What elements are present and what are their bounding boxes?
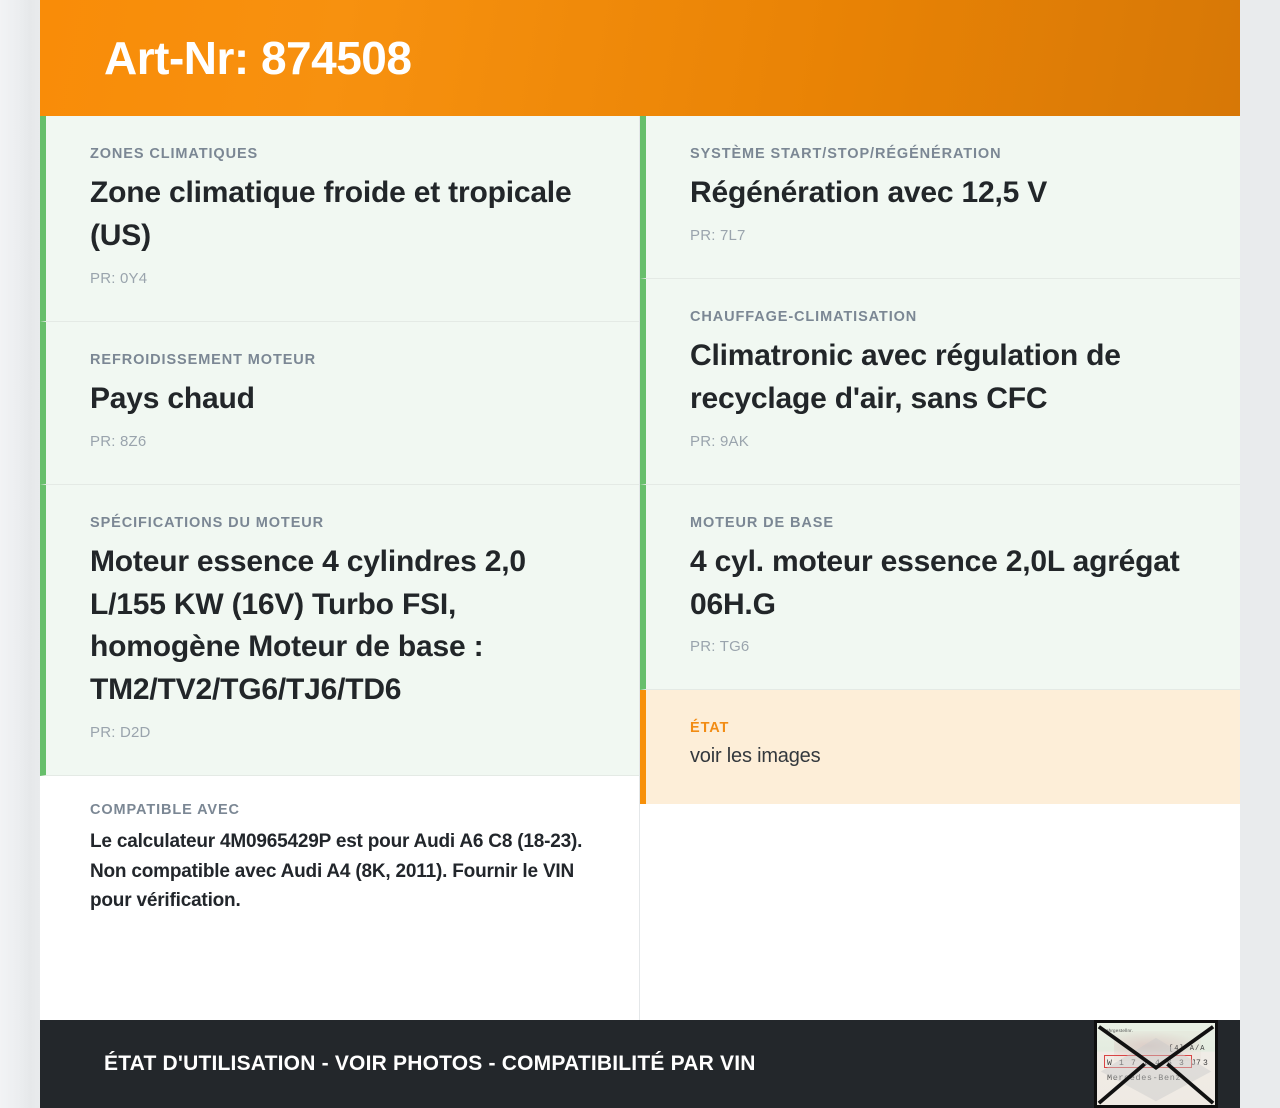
spec-pr-code: PR: 8Z6: [90, 433, 595, 450]
state-card[interactable]: ÉTAT voir les images: [640, 690, 1240, 804]
right-column-filler: [640, 804, 1240, 1020]
spec-card-chauffage-climatisation[interactable]: CHAUFFAGE-CLIMATISATION Climatronic avec…: [640, 279, 1240, 485]
right-column: SYSTÈME START/STOP/RÉGÉNÉRATION Régénéra…: [640, 116, 1240, 1020]
spec-pr-code: PR: 9AK: [690, 433, 1196, 450]
state-value: voir les images: [690, 742, 1196, 770]
spec-value: 4 cyl. moteur essence 2,0L agrégat 06H.G: [690, 541, 1196, 627]
spec-value: Moteur essence 4 cylindres 2,0 L/155 KW …: [90, 541, 595, 713]
spec-value: Pays chaud: [90, 378, 595, 421]
state-label: ÉTAT: [690, 720, 1196, 736]
spec-label: SPÉCIFICATIONS DU MOTEUR: [90, 515, 595, 531]
spec-card-refroidissement-moteur[interactable]: REFROIDISSEMENT MOTEUR Pays chaud PR: 8Z…: [40, 322, 639, 485]
footer-notice: ÉTAT D'UTILISATION - VOIR PHOTOS - COMPA…: [104, 1052, 756, 1076]
spec-card-zones-climatiques[interactable]: ZONES CLIMATIQUES Zone climatique froide…: [40, 116, 639, 322]
spec-pr-code: PR: 0Y4: [90, 270, 595, 287]
spec-label: MOTEUR DE BASE: [690, 515, 1196, 531]
spec-card-systeme-start-stop-regeneration[interactable]: SYSTÈME START/STOP/RÉGÉNÉRATION Régénéra…: [640, 116, 1240, 279]
spec-label: CHAUFFAGE-CLIMATISATION: [690, 309, 1196, 325]
spec-value: Régénération avec 12,5 V: [690, 172, 1196, 215]
spec-value: Zone climatique froide et tropicale (US): [90, 172, 595, 258]
compatibility-label: COMPATIBLE AVEC: [90, 802, 595, 818]
spec-card-moteur-de-base[interactable]: MOTEUR DE BASE 4 cyl. moteur essence 2,0…: [640, 485, 1240, 691]
spec-card-specifications-du-moteur[interactable]: SPÉCIFICATIONS DU MOTEUR Moteur essence …: [40, 485, 639, 777]
spec-value: Climatronic avec régulation de recyclage…: [690, 335, 1196, 421]
envelope-over-vehicle-registration-icon[interactable]: Fahrgestellnr. [4] A/A W 1 7 1 4 6 3 J 3…: [1094, 1020, 1218, 1108]
spec-label: ZONES CLIMATIQUES: [90, 146, 595, 162]
compatibility-value: Le calculateur 4M0965429P est pour Audi …: [90, 827, 595, 915]
spec-pr-code: PR: TG6: [690, 638, 1196, 655]
spec-pr-code: PR: D2D: [90, 724, 595, 741]
spec-pr-code: PR: 7L7: [690, 227, 1196, 244]
spec-grid: ZONES CLIMATIQUES Zone climatique froide…: [40, 116, 1240, 1020]
envelope-outline-icon: [1097, 1023, 1215, 1105]
spec-label: REFROIDISSEMENT MOTEUR: [90, 352, 595, 368]
page-title: Art-Nr: 874508: [40, 35, 411, 81]
left-column: ZONES CLIMATIQUES Zone climatique froide…: [40, 116, 640, 1020]
left-column-filler: [40, 946, 639, 1020]
product-sheet: Art-Nr: 874508 ZONES CLIMATIQUES Zone cl…: [40, 0, 1240, 1108]
spec-label: SYSTÈME START/STOP/RÉGÉNÉRATION: [690, 146, 1196, 162]
header-banner: Art-Nr: 874508: [40, 0, 1240, 116]
compatibility-card[interactable]: COMPATIBLE AVEC Le calculateur 4M0965429…: [40, 776, 639, 945]
footer-bar: ÉTAT D'UTILISATION - VOIR PHOTOS - COMPA…: [40, 1020, 1240, 1108]
